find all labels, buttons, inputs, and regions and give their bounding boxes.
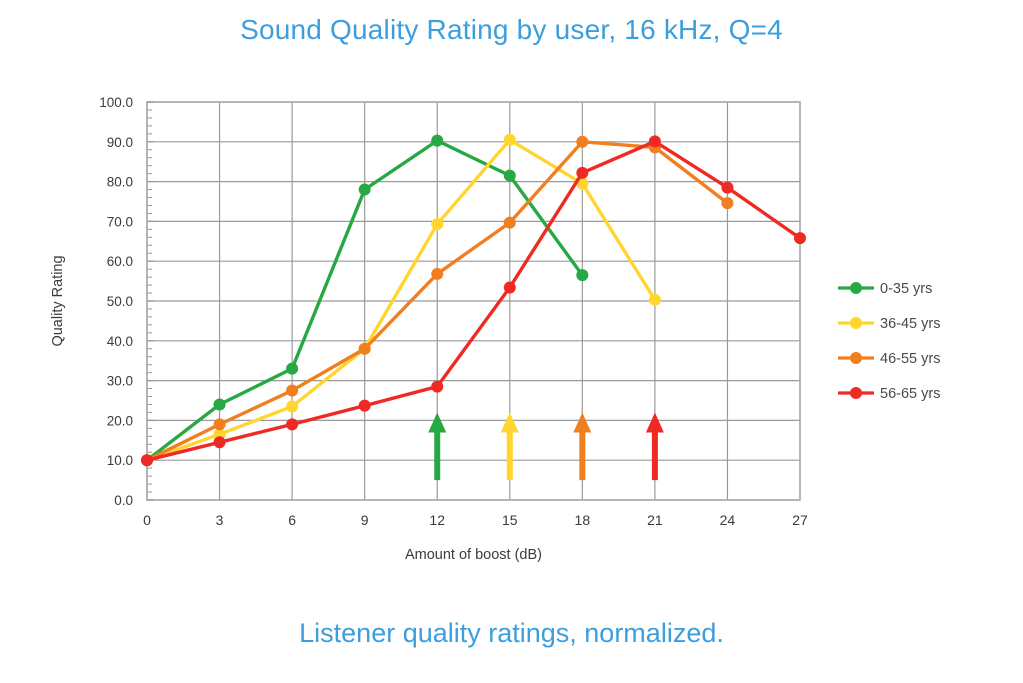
legend-item-0-35-yrs[interactable]: 0-35 yrs bbox=[838, 281, 932, 297]
chart-legend: 0-35 yrs36-45 yrs46-55 yrs56-65 yrs bbox=[838, 281, 940, 402]
data-point bbox=[649, 135, 661, 147]
legend-label: 46-55 yrs bbox=[880, 351, 940, 367]
legend-item-46-55-yrs[interactable]: 46-55 yrs bbox=[838, 351, 940, 367]
data-point bbox=[214, 436, 226, 448]
y-axis-title: Quality Rating bbox=[50, 255, 66, 346]
x-tick-label: 3 bbox=[216, 512, 224, 528]
data-point bbox=[286, 363, 298, 375]
legend-item-36-45-yrs[interactable]: 36-45 yrs bbox=[838, 316, 940, 332]
y-tick-label: 30.0 bbox=[107, 374, 133, 389]
data-point bbox=[359, 343, 371, 355]
y-tick-label: 70.0 bbox=[107, 214, 133, 229]
data-point bbox=[504, 134, 516, 146]
line-chart-plot: 0.010.020.030.040.050.060.070.080.090.01… bbox=[0, 0, 1023, 683]
legend-swatch-marker bbox=[850, 317, 862, 329]
data-point bbox=[286, 385, 298, 397]
data-point bbox=[794, 232, 806, 244]
data-point bbox=[214, 418, 226, 430]
x-tick-label: 12 bbox=[429, 512, 445, 528]
y-tick-label: 20.0 bbox=[107, 413, 133, 428]
data-point bbox=[504, 217, 516, 229]
data-point bbox=[431, 268, 443, 280]
x-tick-label: 15 bbox=[502, 512, 518, 528]
y-minor-ticks bbox=[147, 102, 154, 500]
y-tick-label: 60.0 bbox=[107, 254, 133, 269]
y-tick-label: 100.0 bbox=[99, 95, 133, 110]
legend-item-56-65-yrs[interactable]: 56-65 yrs bbox=[838, 386, 940, 402]
data-point bbox=[721, 182, 733, 194]
chart-caption: Listener quality ratings, normalized. bbox=[0, 618, 1023, 649]
data-point bbox=[721, 197, 733, 209]
y-tick-label: 90.0 bbox=[107, 135, 133, 150]
x-tick-label: 21 bbox=[647, 512, 663, 528]
x-tick-label: 18 bbox=[575, 512, 591, 528]
y-axis-ticks: 0.010.020.030.040.050.060.070.080.090.01… bbox=[99, 95, 133, 508]
x-tick-label: 0 bbox=[143, 512, 151, 528]
arrow-46-55-icon bbox=[573, 412, 591, 480]
x-axis-ticks: 0369121518212427 bbox=[143, 512, 808, 528]
data-point bbox=[286, 400, 298, 412]
x-tick-label: 24 bbox=[720, 512, 736, 528]
data-point bbox=[431, 135, 443, 147]
data-point bbox=[214, 398, 226, 410]
x-tick-label: 27 bbox=[792, 512, 808, 528]
arrow-56-65-icon bbox=[646, 412, 664, 480]
x-axis-title: Amount of boost (dB) bbox=[405, 547, 542, 563]
data-point bbox=[431, 218, 443, 230]
arrow-36-45-icon bbox=[501, 412, 519, 480]
y-tick-label: 0.0 bbox=[114, 493, 133, 508]
data-point bbox=[286, 418, 298, 430]
x-tick-label: 6 bbox=[288, 512, 296, 528]
arrow-0-35-icon bbox=[428, 412, 446, 480]
annotation-arrows bbox=[428, 412, 664, 480]
data-point bbox=[649, 294, 661, 306]
data-point bbox=[504, 281, 516, 293]
data-series bbox=[141, 134, 806, 466]
legend-swatch-marker bbox=[850, 282, 862, 294]
grid-lines bbox=[147, 102, 800, 500]
data-point bbox=[141, 454, 153, 466]
y-tick-label: 40.0 bbox=[107, 334, 133, 349]
legend-swatch-marker bbox=[850, 352, 862, 364]
data-point bbox=[576, 136, 588, 148]
legend-label: 0-35 yrs bbox=[880, 281, 932, 297]
data-point bbox=[359, 400, 371, 412]
y-tick-label: 80.0 bbox=[107, 175, 133, 190]
x-tick-label: 9 bbox=[361, 512, 369, 528]
legend-label: 56-65 yrs bbox=[880, 386, 940, 402]
y-tick-label: 50.0 bbox=[107, 294, 133, 309]
data-point bbox=[576, 167, 588, 179]
chart-figure: Sound Quality Rating by user, 16 kHz, Q=… bbox=[0, 0, 1023, 683]
data-point bbox=[359, 184, 371, 196]
data-point bbox=[504, 170, 516, 182]
data-point bbox=[431, 381, 443, 393]
data-point bbox=[576, 269, 588, 281]
y-tick-label: 10.0 bbox=[107, 453, 133, 468]
legend-label: 36-45 yrs bbox=[880, 316, 940, 332]
legend-swatch-marker bbox=[850, 387, 862, 399]
